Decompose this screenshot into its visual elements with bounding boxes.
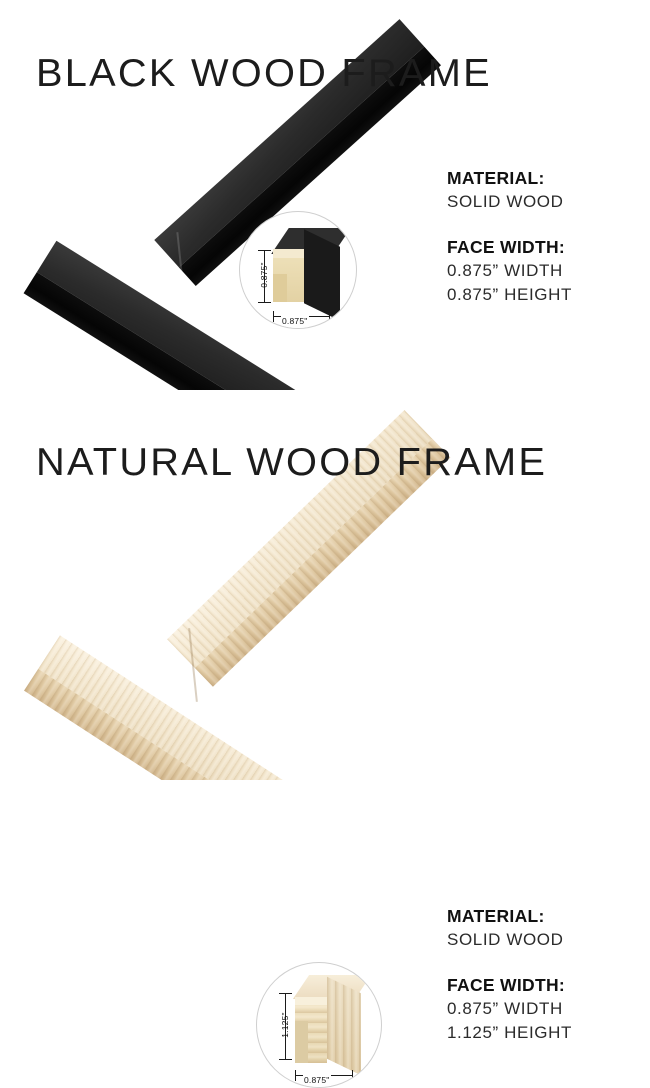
spec-label-material: MATERIAL:: [447, 906, 572, 928]
dim-vertical-cap-top: [258, 250, 271, 251]
black-spec-block: MATERIAL: SOLID WOOD FACE WIDTH: 0.875” …: [447, 168, 572, 307]
dim-horizontal-cap-left: [273, 311, 274, 322]
spec-value-material: SOLID WOOD: [447, 928, 572, 952]
dim-horizontal-cap-right: [329, 311, 330, 322]
spec-label-face-width: FACE WIDTH:: [447, 237, 572, 259]
black-profile-inset: 0.875" 0.875": [239, 211, 357, 329]
dim-horizontal-label: 0.875": [304, 1075, 330, 1085]
profile-core-lip: [273, 249, 304, 258]
dim-vertical-cap-bottom: [279, 1059, 292, 1060]
profile-rabbet-shadow: [295, 1021, 308, 1063]
spec-spacer: [447, 952, 572, 975]
spec-spacer: [447, 214, 572, 237]
spec-value-face-width: 0.875” WIDTH: [447, 997, 572, 1021]
section-black-wood-frame: BLACK WOOD FRAME 0.875" 0.875" MATERIAL: [0, 0, 650, 390]
dim-horizontal-cap-right: [352, 1070, 353, 1081]
profile-rabbet-shadow: [273, 274, 287, 302]
dim-horizontal-label-wrap: 0.875": [303, 1070, 331, 1088]
spec-label-material: MATERIAL:: [447, 168, 572, 190]
section-title-black: BLACK WOOD FRAME: [36, 52, 492, 96]
spec-label-face-width: FACE WIDTH:: [447, 975, 572, 997]
frame-arm-left: [24, 635, 312, 780]
profile-core-lip: [295, 997, 327, 1005]
section-title-natural: NATURAL WOOD FRAME: [36, 441, 547, 485]
spec-value-material: SOLID WOOD: [447, 190, 572, 214]
dim-horizontal-label-wrap: 0.875": [281, 311, 309, 329]
profile-outer-face: [327, 977, 361, 1076]
dim-horizontal-label: 0.875": [282, 316, 308, 326]
spec-value-face-width: 0.875” WIDTH: [447, 259, 572, 283]
natural-spec-block: MATERIAL: SOLID WOOD FACE WIDTH: 0.875” …: [447, 906, 572, 1045]
spec-value-face-height: 0.875” HEIGHT: [447, 283, 572, 307]
natural-profile-inset: 1.125" 0.875": [256, 962, 382, 1088]
dim-vertical-cap-top: [279, 993, 292, 994]
frame-spec-sheet: BLACK WOOD FRAME 0.875" 0.875" MATERIAL: [0, 0, 650, 780]
dim-vertical-label: 0.875": [259, 256, 269, 294]
spec-value-face-height: 1.125” HEIGHT: [447, 1021, 572, 1045]
section-natural-wood-frame: NATURAL WOOD FRAME 1.125" 0.875" MATERIA…: [0, 390, 650, 780]
dim-horizontal-cap-left: [295, 1070, 296, 1081]
dim-vertical-cap-bottom: [258, 302, 271, 303]
dim-vertical-label: 1.125": [280, 1006, 290, 1044]
